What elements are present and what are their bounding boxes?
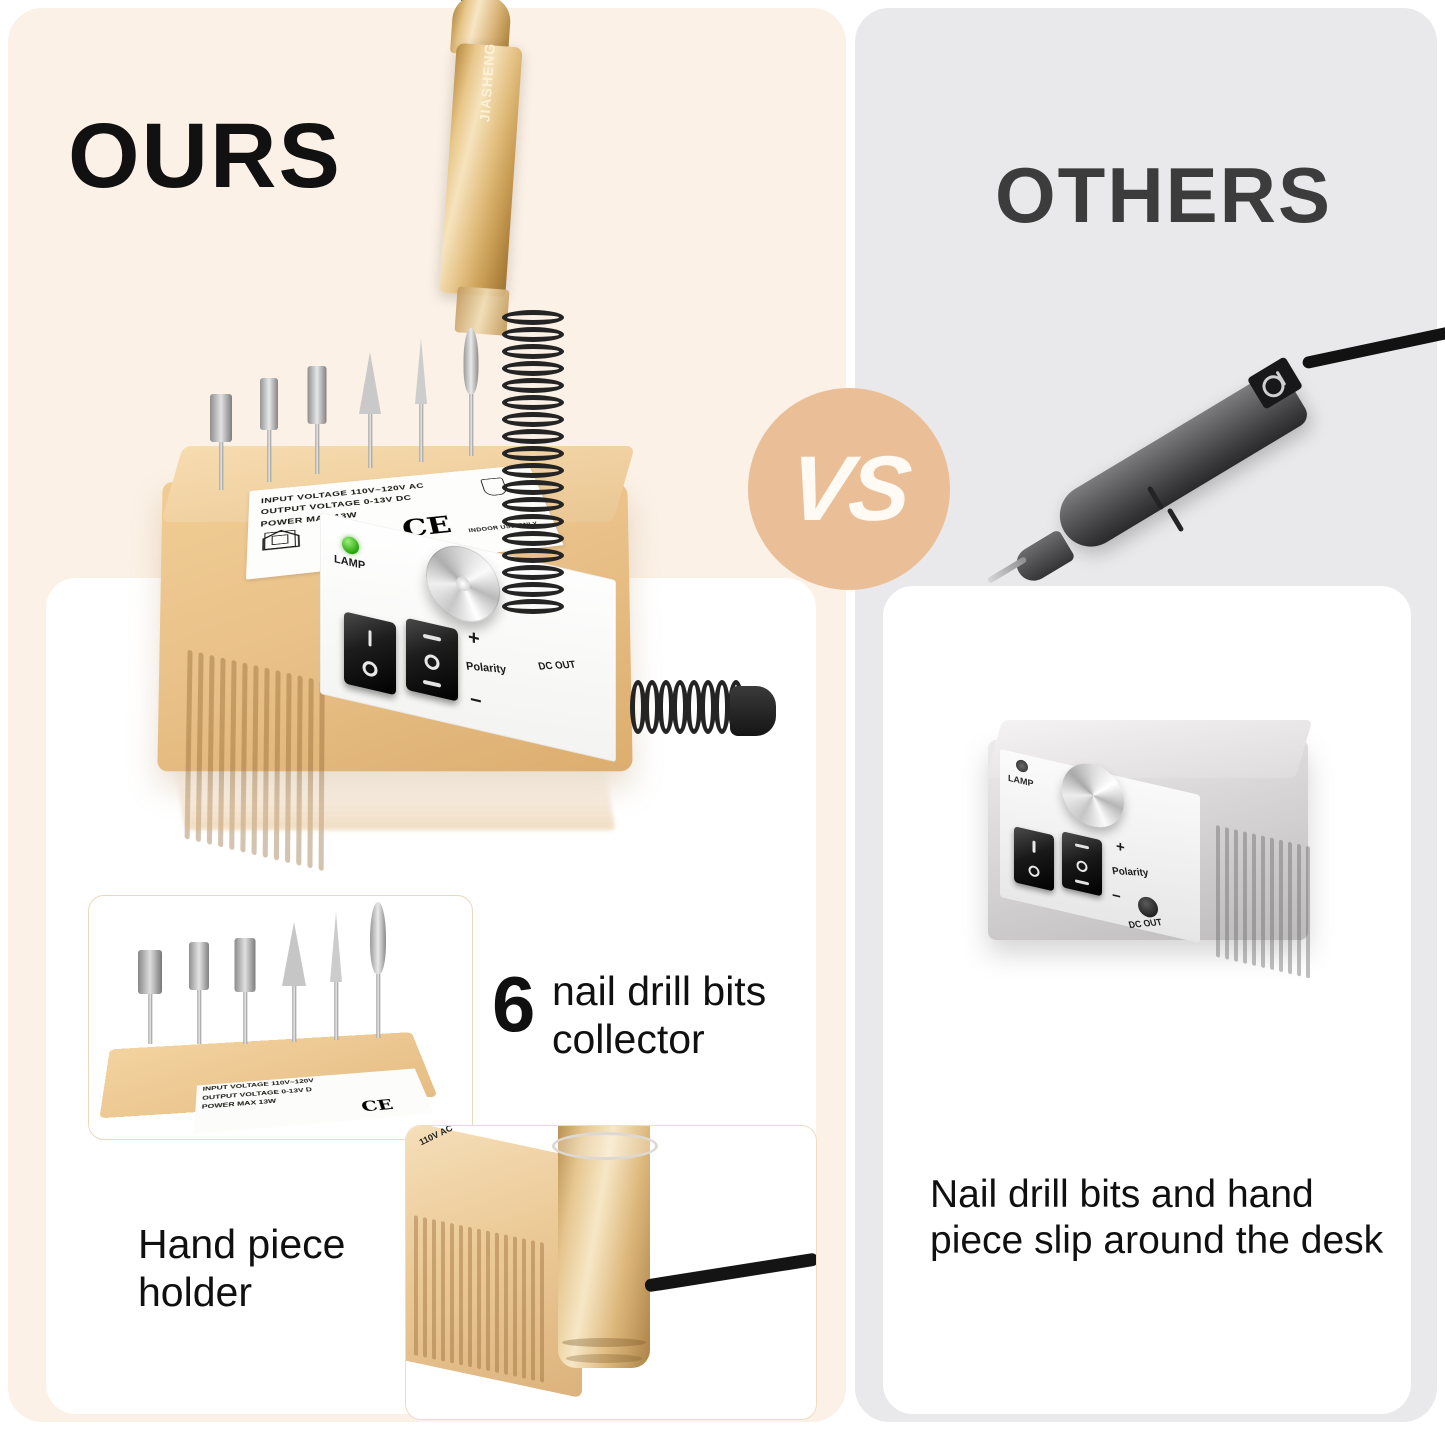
switch-minus-marking [1075, 879, 1089, 885]
others-title: OTHERS [995, 150, 1332, 241]
others-polarity-label: Polarity [1111, 866, 1149, 879]
switch-plus-marking [423, 634, 441, 642]
others-polarity-minus: − [1112, 887, 1121, 906]
drill-bits-collector-inset: INPUT VOLTAGE 110V~120V OUTPUT VOLTAGE 0… [88, 895, 473, 1140]
lamp-led-indicator [342, 535, 359, 556]
others-dc-out-jack[interactable] [1138, 895, 1158, 920]
hand-piece-holder-inset: 110V AC [405, 1125, 817, 1420]
polarity-plus-symbol: + [468, 626, 480, 652]
bits-caption-line2: collector [552, 1015, 766, 1063]
polarity-minus-symbol: − [470, 688, 482, 714]
drill-bit [358, 348, 382, 468]
handpiece-ring [562, 1338, 646, 1347]
drill-bit [462, 324, 480, 456]
others-power-rocker[interactable] [1014, 826, 1054, 891]
drill-bit [412, 336, 430, 462]
switch-on-marking [1033, 840, 1036, 853]
coiled-cable [502, 310, 574, 640]
vs-label: VS [784, 437, 914, 542]
handpiece-plug [730, 686, 776, 736]
holder-caption: Hand piece holder [138, 1220, 345, 1317]
others-handpiece [1025, 335, 1425, 665]
comparison-graphic: OURS JIASHENG [0, 0, 1445, 1445]
handpiece-ring [566, 1354, 642, 1363]
others-caption: Nail drill bits and hand piece slip arou… [930, 1172, 1400, 1264]
others-lamp-indicator [1016, 759, 1028, 774]
holder-caption-line1: Hand piece [138, 1220, 345, 1268]
drill-bit [258, 378, 280, 482]
lamp-label: LAMP [334, 553, 365, 572]
switch-off-marking [363, 660, 378, 678]
holder-handpiece [558, 1125, 650, 1368]
holder-caption-line2: holder [138, 1268, 345, 1316]
drill-bit [208, 394, 234, 490]
bits-caption-line1: nail drill bits [552, 967, 766, 1015]
class2-insulation-icon [264, 530, 296, 550]
switch-minus-marking [423, 680, 441, 688]
others-caption-line2: piece slip around the desk [930, 1218, 1400, 1264]
dc-out-label: DC OUT [537, 659, 577, 672]
polarity-label: Polarity [465, 660, 507, 676]
handpiece-brand-label: JIASHENG [476, 76, 495, 123]
holder-device-vents [414, 1215, 554, 1385]
switch-center-marking [1077, 860, 1088, 874]
others-caption-line1: Nail drill bits and hand [930, 1172, 1400, 1218]
others-polarity-plus: + [1116, 838, 1125, 857]
ours-title: OURS [68, 104, 342, 209]
speed-control-knob[interactable] [426, 538, 500, 629]
ours-nail-drill-device: JIASHENG [150, 350, 790, 830]
others-handpiece-vent [1167, 508, 1185, 533]
base-unit-vents [185, 650, 330, 873]
bits-count-number: 6 [492, 958, 535, 1050]
handpiece-cord [644, 1252, 817, 1292]
others-base-unit: LAMP + Polarity − DC OUT [978, 700, 1338, 1000]
polarity-rocker-switch[interactable] [406, 618, 458, 702]
bits-caption: nail drill bits collector [552, 967, 766, 1064]
switch-plus-marking [1075, 843, 1089, 849]
others-polarity-rocker[interactable] [1062, 831, 1102, 896]
device-reflection [175, 768, 616, 830]
switch-off-marking [1029, 864, 1040, 878]
drill-bit [306, 364, 328, 474]
power-rocker-switch[interactable] [344, 611, 396, 695]
vs-badge: VS [748, 388, 950, 590]
others-base-vents [1216, 825, 1312, 979]
switch-center-marking [425, 653, 440, 671]
others-lamp-label: LAMP [1008, 773, 1034, 789]
handpiece-holder-collar [552, 1132, 658, 1160]
others-dc-out-label: DC OUT [1127, 917, 1163, 930]
switch-on-marking [369, 630, 372, 647]
inset-ce-mark-icon: CE [359, 1096, 395, 1115]
